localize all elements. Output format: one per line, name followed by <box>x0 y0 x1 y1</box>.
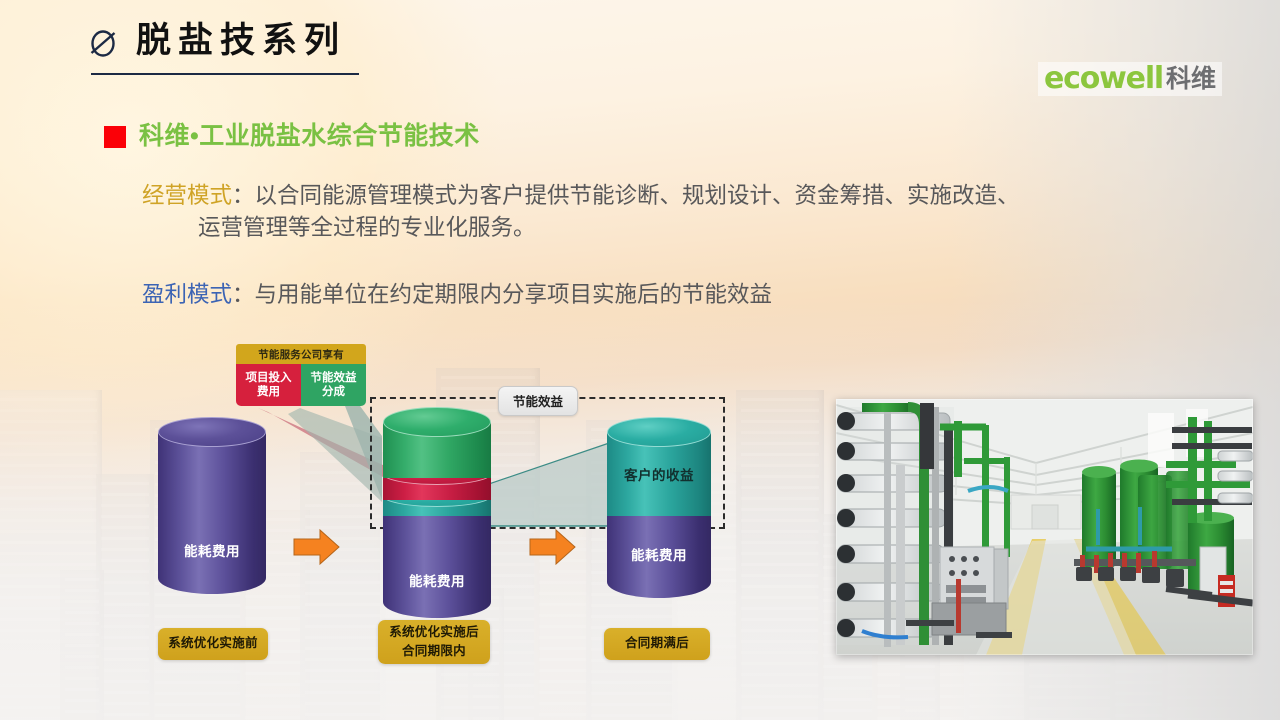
paragraph-label-business-model: 经营模式 <box>142 183 232 208</box>
legend-top-label: 节能服务公司享有 <box>236 344 366 364</box>
savings-region-label: 节能效益 <box>498 386 578 416</box>
cylinder-label-energy-cost: 能耗费用 <box>383 570 491 590</box>
paragraph-label-profit-model: 盈利模式 <box>142 282 232 307</box>
paragraph-line-1: 以合同能源管理模式为客户提供节能诊断、规划设计、资金筹措、实施改造、 <box>255 183 1020 208</box>
paragraph-profit-model: 盈利模式：与用能单位在约定期限内分享项目实施后的节能效益 <box>142 279 1222 311</box>
section-heading: 科维•工业脱盐水综合节能技术 <box>104 124 480 149</box>
legend-block: 节能服务公司享有 项目投入 费用 节能效益 分成 <box>236 344 366 406</box>
footer-after-line1: 合同期满后 <box>625 634 689 653</box>
page-title: 脱盐技系列 <box>136 24 346 59</box>
footer-label-after: 合同期满后 <box>604 628 710 660</box>
heading-bullet-square-icon <box>104 126 126 148</box>
footer-label-during: 系统优化实施后 合同期限内 <box>378 620 490 664</box>
cylinder-label-customer-benefit: 客户的收益 <box>607 464 711 484</box>
footer-label-before: 系统优化实施前 <box>158 628 268 660</box>
cylinder-after-contract: 客户的收益 能耗费用 <box>607 432 711 598</box>
legend-investment-line2: 费用 <box>257 385 280 399</box>
paragraph-separator: ： <box>232 282 255 307</box>
cylinder-segment-energy-cost <box>158 432 266 594</box>
cylinder-before-optimization: 能耗费用 <box>158 432 266 594</box>
footer-during-line1: 系统优化实施后 <box>389 623 479 642</box>
logo-brand-cn: 科维 <box>1166 67 1216 92</box>
cylinder-segment-green-top <box>383 422 491 478</box>
footer-before-line1: 系统优化实施前 <box>168 634 258 653</box>
logo-brand-text: ecowell <box>1044 64 1163 94</box>
cylinder-during-contract: 能耗费用 <box>383 422 491 618</box>
slide: 脱盐技系列 ecowell 科维 科维•工业脱盐水综合节能技术 经营模式：以合同… <box>0 0 1280 720</box>
slashed-circle-icon <box>88 25 118 59</box>
arrow-right-2-icon <box>528 527 578 567</box>
legend-investment-cost: 项目投入 费用 <box>236 364 301 406</box>
heading-text: 科维•工业脱盐水综合节能技术 <box>139 124 480 149</box>
arrow-right-1-icon <box>292 527 342 567</box>
paragraph-line-2: 运营管理等全过程的专业化服务。 <box>198 215 536 240</box>
cylinder-label-energy-cost: 能耗费用 <box>158 540 266 560</box>
paragraph-line-1: 与用能单位在约定期限内分享项目实施后的节能效益 <box>255 282 773 307</box>
footer-during-line2: 合同期限内 <box>402 642 466 661</box>
legend-savings-line2: 分成 <box>322 385 345 399</box>
legend-investment-line1: 项目投入 <box>246 371 292 385</box>
title-divider <box>91 73 359 75</box>
paragraph-separator: ： <box>232 183 255 208</box>
legend-savings-line1: 节能效益 <box>311 371 357 385</box>
brand-logo: ecowell 科维 <box>1038 62 1222 96</box>
cylinder-segment-energy-cost <box>383 512 491 618</box>
paragraph-business-model: 经营模式：以合同能源管理模式为客户提供节能诊断、规划设计、资金筹措、实施改造、 … <box>142 180 1222 244</box>
energy-savings-diagram: 节能效益 节能服务公司享有 项目投入 费用 节能效益 分成 能耗费用 <box>0 330 820 680</box>
cylinder-label-energy-cost: 能耗费用 <box>607 544 711 564</box>
slide-title-block: 脱盐技系列 <box>88 24 359 75</box>
plant-photo <box>836 399 1253 655</box>
legend-savings-share: 节能效益 分成 <box>301 364 366 406</box>
